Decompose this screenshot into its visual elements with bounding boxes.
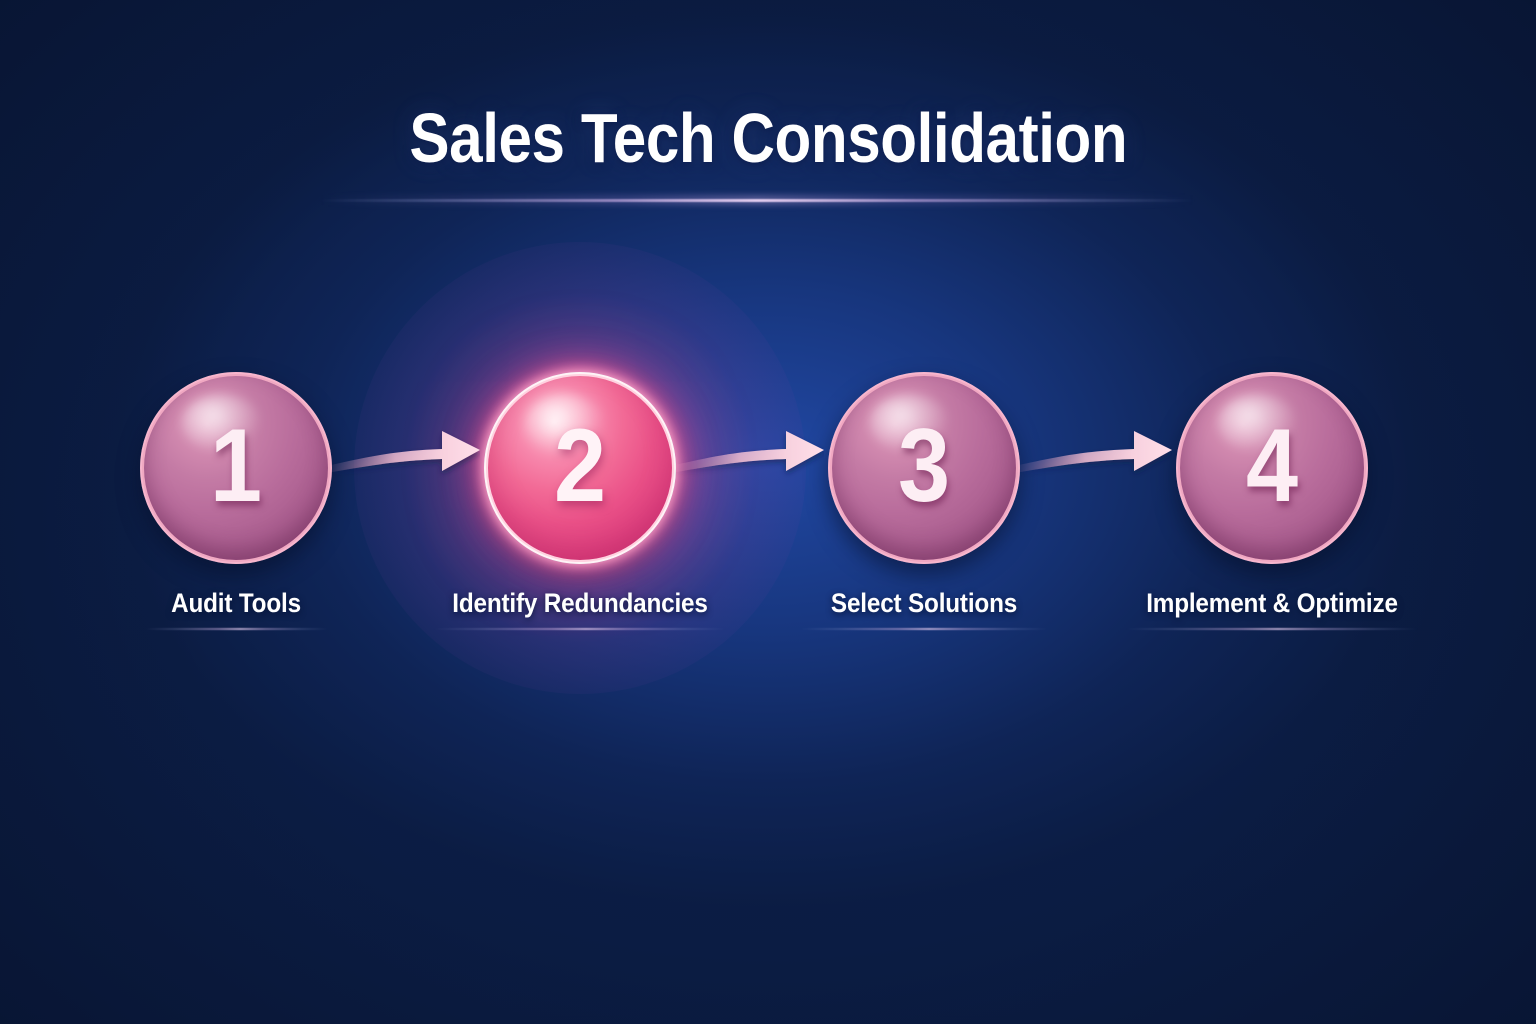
step-circle-1[interactable]: 1 <box>140 372 332 564</box>
step-circle-2[interactable]: 2 <box>484 372 676 564</box>
specular-highlight <box>525 394 606 453</box>
step-label-underline <box>800 628 1048 630</box>
flow-arrow-1-to-2 <box>326 405 480 495</box>
specular-highlight <box>869 394 950 453</box>
arrow-shape <box>326 431 480 473</box>
step-number-1: 1 <box>153 374 319 558</box>
step-label-underline <box>1126 628 1418 630</box>
step-label-underline <box>145 628 328 630</box>
step-label-1: Audit Tools <box>101 588 371 619</box>
flow-arrow-3-to-4 <box>1014 405 1172 495</box>
step-label-4: Implement & Optimize <box>1137 588 1407 619</box>
flow-arrow-2-to-3 <box>670 405 824 495</box>
specular-highlight <box>1217 394 1298 453</box>
arrow-icon <box>1014 405 1172 495</box>
step-circle-4[interactable]: 4 <box>1176 372 1368 564</box>
process-steps: 1Audit Tools2Identify Redundancies3Selec… <box>0 0 1536 1024</box>
step-number-4: 4 <box>1189 374 1355 558</box>
step-circle-body: 1 <box>140 372 332 564</box>
arrow-icon <box>326 405 480 495</box>
specular-highlight <box>181 394 262 453</box>
step-circle-3[interactable]: 3 <box>828 372 1020 564</box>
arrow-shape <box>670 431 824 473</box>
arrow-icon <box>670 405 824 495</box>
step-label-2: Identify Redundancies <box>445 588 715 619</box>
infographic-canvas: Sales Tech Consolidation 1Audit Tools2Id… <box>0 0 1536 1024</box>
step-circle-body: 4 <box>1176 372 1368 564</box>
step-number-2: 2 <box>497 374 663 558</box>
step-label-underline <box>434 628 726 630</box>
arrow-shape <box>1014 431 1172 473</box>
step-circle-body: 3 <box>828 372 1020 564</box>
step-label-3: Select Solutions <box>789 588 1059 619</box>
step-number-3: 3 <box>841 374 1007 558</box>
step-circle-body: 2 <box>484 372 676 564</box>
